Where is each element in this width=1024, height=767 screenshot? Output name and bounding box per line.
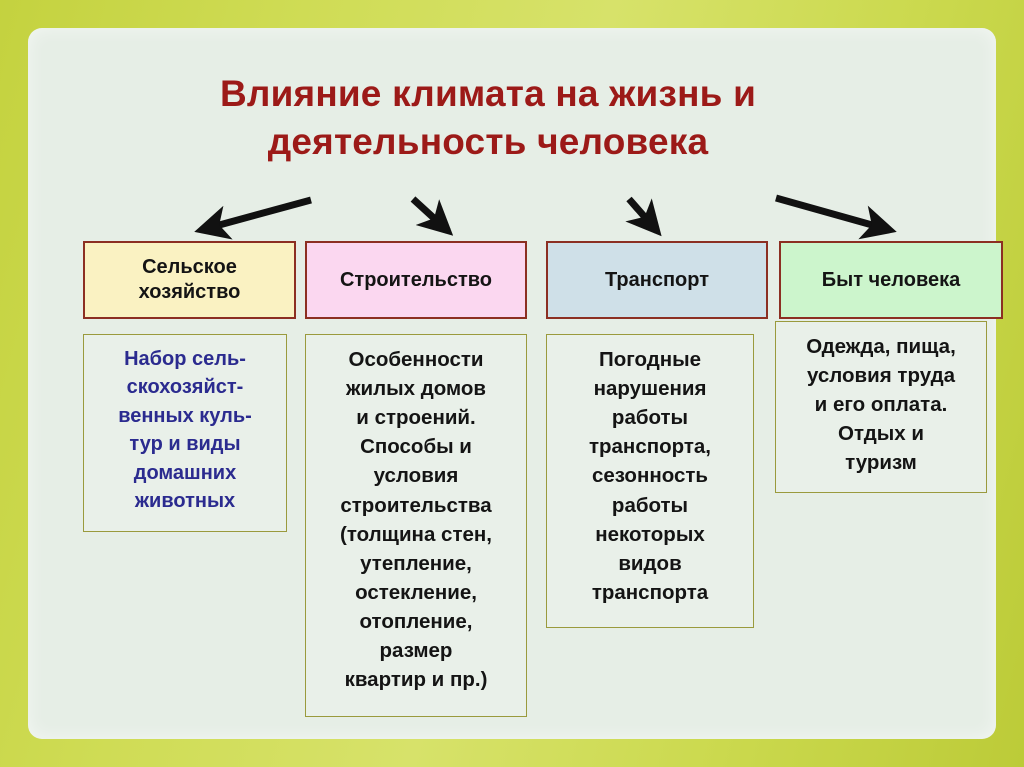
description-box-transport: Погодные нарушения работы транспорта, се… [546, 334, 754, 628]
arrow-to-daily-life-icon [776, 198, 890, 230]
column-agriculture: Сельское хозяйство Набор сель- скохозяйс… [83, 241, 296, 319]
category-box-transport[interactable]: Транспорт [546, 241, 768, 319]
slide-inner-panel: Влияние климата на жизнь и деятельность … [28, 28, 996, 739]
arrow-to-construction-icon [413, 199, 448, 231]
slide-canvas: Влияние климата на жизнь и деятельность … [0, 0, 1024, 767]
description-box-daily-life: Одежда, пища, условия труда и его оплата… [775, 321, 987, 493]
column-construction: Строительство Особенности жилых домов и … [305, 241, 527, 319]
arrow-to-transport-icon [629, 199, 657, 231]
page-title: Влияние климата на жизнь и деятельность … [88, 70, 888, 166]
description-box-agriculture: Набор сель- скохозяйст- венных куль- тур… [83, 334, 287, 532]
description-box-construction: Особенности жилых домов и строений. Спос… [305, 334, 527, 717]
arrow-to-agriculture-icon [201, 200, 311, 230]
category-box-agriculture[interactable]: Сельское хозяйство [83, 241, 296, 319]
column-transport: Транспорт Погодные нарушения работы тран… [546, 241, 768, 319]
category-box-daily-life[interactable]: Быт человека [779, 241, 1003, 319]
column-daily-life: Быт человека Одежда, пища, условия труда… [779, 241, 1003, 319]
category-box-construction[interactable]: Строительство [305, 241, 527, 319]
